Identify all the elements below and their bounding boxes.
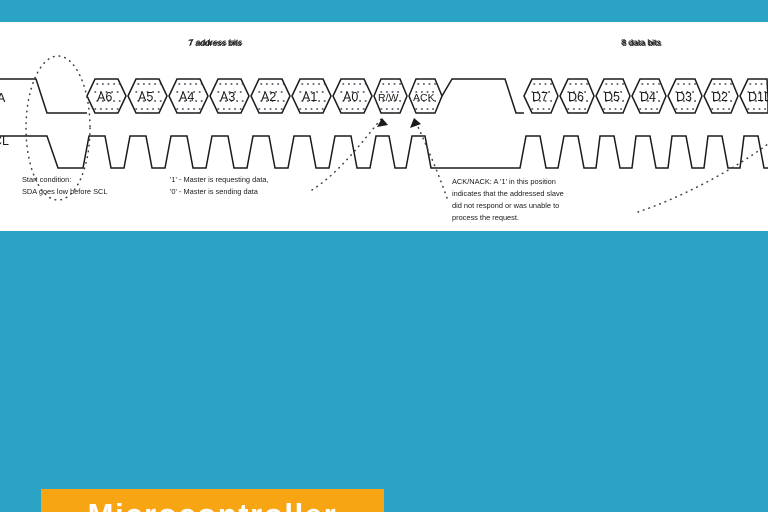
- title-line-1: Microcontroller: [88, 494, 338, 512]
- caption-rw: '1' - Master is requesting data, '0' - M…: [170, 175, 269, 196]
- sda-label: A: [0, 91, 6, 105]
- caption-start-line2: SDA goes low before SCL: [22, 187, 107, 196]
- caption-ack-line3: did not respond or was unable to: [452, 201, 559, 210]
- bitlabel-d3: D3: [676, 90, 692, 104]
- bitlabel-d1: D1: [748, 90, 764, 104]
- caption-start-line1: Start condition:: [22, 175, 71, 184]
- caption-ack-line4: process the request.: [452, 213, 519, 222]
- caption-ack-line2: indicates that the addressed slave: [452, 189, 564, 198]
- bottom-teal-area: Microcontroller Communication Protocol: [0, 231, 768, 512]
- header-address-bits: 7 address bits: [188, 38, 242, 48]
- i2c-timing-diagram: A CL 7 address bits 8 data bits: [0, 22, 768, 231]
- caption-rw-line1: '1' - Master is requesting data,: [170, 175, 269, 184]
- bitlabel-d5: D5: [604, 90, 620, 104]
- bitlabel-a6: A6: [97, 90, 112, 104]
- bitlabel-ack: ACK: [413, 92, 435, 104]
- bitlabel-a5: A5: [138, 90, 153, 104]
- caption-start-condition: Start condition: SDA goes low before SCL: [22, 175, 107, 196]
- screenshot-root: A CL 7 address bits 8 data bits: [0, 0, 768, 512]
- bitlabel-a1: A1: [302, 90, 317, 104]
- top-teal-band: [0, 0, 768, 22]
- bitlabel-a0: A0: [343, 90, 358, 104]
- bitlabel-a2: A2: [261, 90, 276, 104]
- bitlabel-rw: R/W: [378, 92, 399, 104]
- bitlabel-a3: A3: [220, 90, 235, 104]
- caption-rw-line2: '0' - Master is sending data: [170, 187, 259, 196]
- timing-diagram-svg: A CL 7 address bits 8 data bits: [0, 22, 768, 231]
- header-data-bits: 8 data bits: [622, 38, 662, 48]
- bitlabel-d6: D6: [568, 90, 584, 104]
- bitlabel-d7: D7: [532, 90, 548, 104]
- caption-ack-nack: ACK/NACK: A '1' in this position indicat…: [452, 177, 564, 222]
- caption-ack-line1: ACK/NACK: A '1' in this position: [452, 177, 556, 186]
- bitlabel-d2: D2: [712, 90, 728, 104]
- bitlabel-a4: A4: [179, 90, 194, 104]
- bitlabel-d0: D: [764, 90, 768, 104]
- title-card: Microcontroller Communication Protocol: [41, 489, 384, 512]
- bitlabel-d4: D4: [640, 90, 656, 104]
